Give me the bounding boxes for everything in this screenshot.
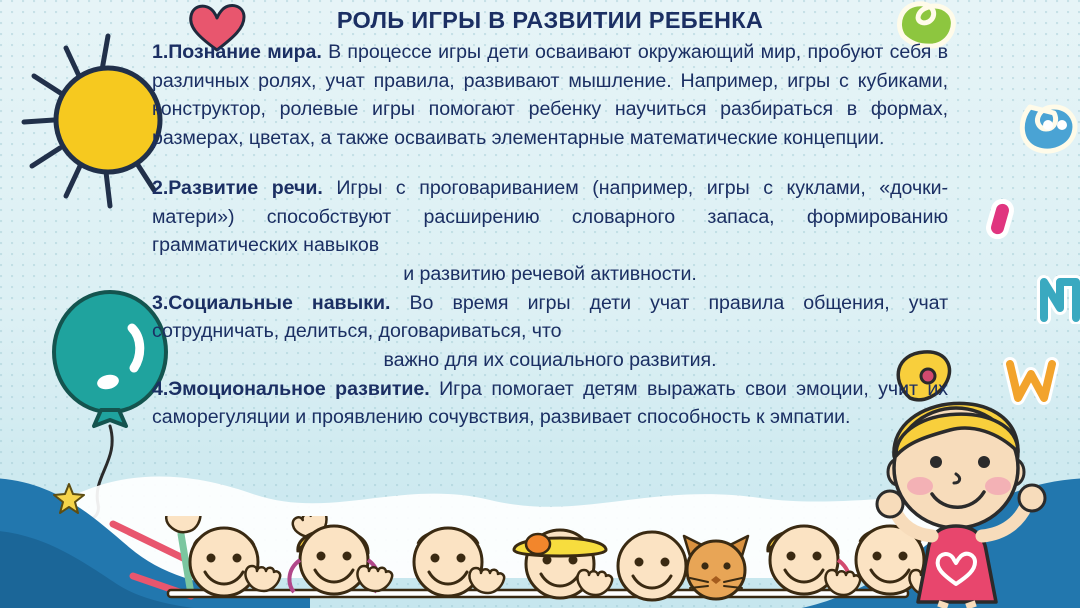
- page-title: РОЛЬ ИГРЫ В РАЗВИТИИ РЕБЕНКА: [152, 4, 948, 36]
- paragraph-1: 1.Познание мира. В процессе игры дети ос…: [152, 38, 948, 153]
- letter-n-sticker-icon: [1034, 272, 1080, 324]
- paragraph-2-last-line: и развитию речевой активности.: [152, 260, 948, 289]
- paragraph-2-lead: 2.Развитие речи.: [152, 177, 323, 199]
- pill-sticker-icon: [981, 195, 1023, 243]
- paragraph-1-text: 1.Познание мира. В процессе игры дети ос…: [152, 41, 948, 149]
- blue-wave-right: [790, 458, 1080, 608]
- paragraph-spacer: [152, 153, 948, 174]
- paragraph-4-text: 4.Эмоциональное развитие. Игра помогает …: [152, 378, 948, 429]
- letter-b-sticker-icon: [1018, 95, 1080, 157]
- paragraph-2-text: 2.Развитие речи. Игры с проговариванием …: [152, 177, 948, 256]
- paragraph-4-lead: 4.Эмоциональное развитие.: [152, 378, 430, 400]
- paragraph-3-text: 3.Социальные навыки. Во время игры дети …: [152, 292, 948, 343]
- paragraph-2: 2.Развитие речи. Игры с проговариванием …: [152, 174, 948, 289]
- slide-text-content: РОЛЬ ИГРЫ В РАЗВИТИИ РЕБЕНКА 1.Познание …: [152, 4, 948, 432]
- paragraph-4: 4.Эмоциональное развитие. Игра помогает …: [152, 375, 948, 432]
- blue-wave-left: [0, 418, 310, 608]
- colored-sticks: [95, 504, 285, 600]
- slide-canvas: РОЛЬ ИГРЫ В РАЗВИТИИ РЕБЕНКА 1.Познание …: [0, 0, 1080, 608]
- paragraph-3: 3.Социальные навыки. Во время игры дети …: [152, 289, 948, 375]
- white-cloud-band: [0, 438, 1080, 578]
- letter-w-sticker-icon: [1002, 356, 1060, 406]
- paragraph-3-last-line: важно для их социального развития.: [152, 346, 948, 375]
- paragraph-1-lead: 1.Познание мира.: [152, 41, 322, 63]
- paragraph-3-lead: 3.Социальные навыки.: [152, 292, 390, 314]
- children-faces-row: [128, 516, 948, 608]
- star-icon: [52, 482, 86, 516]
